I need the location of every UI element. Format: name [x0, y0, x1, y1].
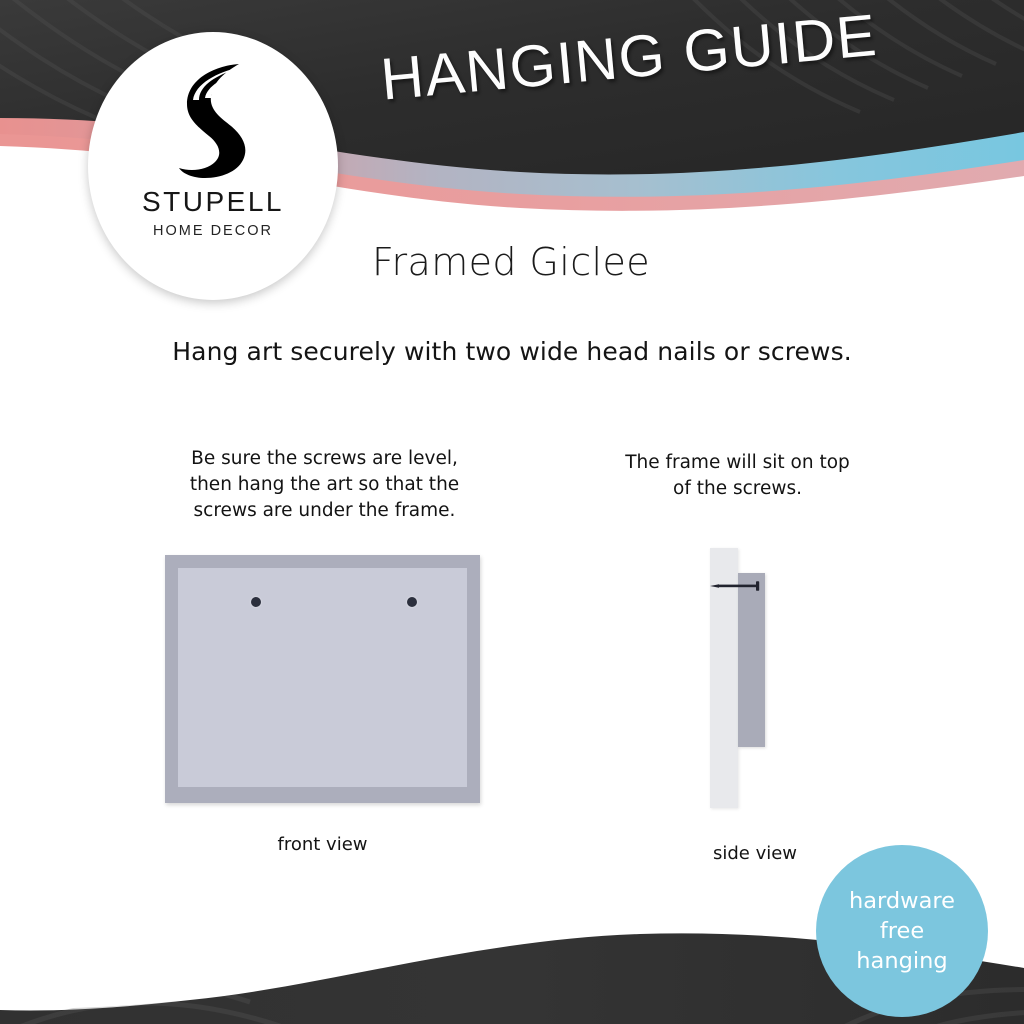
side-view-label: side view: [675, 843, 835, 864]
lead-instruction: Hang art securely with two wide head nai…: [0, 337, 1024, 366]
brand-name: STUPELL: [142, 186, 284, 218]
front-view-label: front view: [165, 834, 480, 855]
front-caption-line-1: Be sure the screws are level,: [152, 446, 497, 472]
badge-line-3: hanging: [856, 946, 947, 976]
side-caption-line-2: of the screws.: [585, 476, 890, 502]
stupell-s-swoosh-logo-icon: [157, 58, 269, 182]
front-view-diagram: [165, 555, 480, 803]
front-caption-line-2: then hang the art so that the: [152, 472, 497, 498]
front-caption-line-3: screws are under the frame.: [152, 498, 497, 524]
page-title: HANGING GUIDE: [378, 1, 880, 114]
hardware-free-hanging-badge: hardware free hanging: [816, 845, 988, 1017]
badge-line-2: free: [880, 916, 924, 946]
side-view-caption: The frame will sit on top of the screws.: [585, 450, 890, 502]
frame-mat: [178, 568, 467, 787]
front-view-caption: Be sure the screws are level, then hang …: [152, 446, 497, 524]
frame-strip: [738, 573, 765, 747]
screw-dot-right-icon: [407, 597, 417, 607]
badge-line-1: hardware: [849, 886, 955, 916]
product-name: Framed Giclee: [372, 240, 650, 284]
hanging-guide-page: STUPELL HOME DECOR HANGING GUIDE Framed …: [0, 0, 1024, 1024]
brand-logo-badge: STUPELL HOME DECOR: [88, 32, 338, 300]
screw-dot-left-icon: [251, 597, 261, 607]
nail-side-icon: [709, 580, 767, 592]
side-caption-line-1: The frame will sit on top: [585, 450, 890, 476]
brand-tagline: HOME DECOR: [153, 223, 273, 239]
side-view-diagram: [700, 540, 810, 815]
